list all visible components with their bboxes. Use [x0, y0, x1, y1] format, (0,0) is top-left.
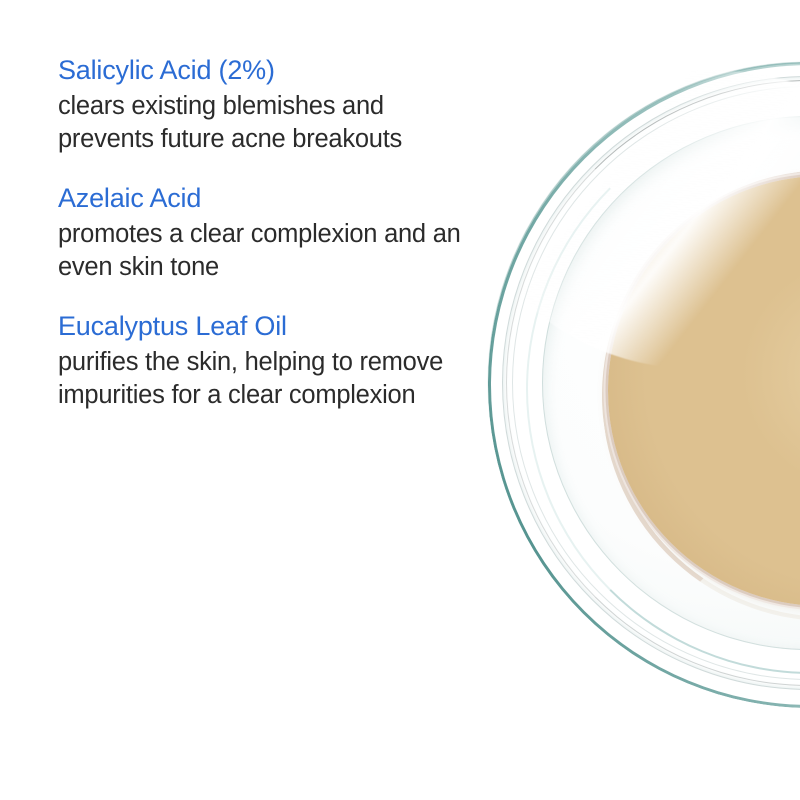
- benefit-description: clears existing blemishes and prevents f…: [58, 90, 478, 156]
- benefit-item-azelaic-acid: Azelaic Acid promotes a clear complexion…: [58, 180, 478, 284]
- benefit-item-salicylic-acid: Salicylic Acid (2%) clears existing blem…: [58, 52, 478, 156]
- benefits-list: Salicylic Acid (2%) clears existing blem…: [58, 52, 478, 412]
- benefit-item-eucalyptus-leaf-oil: Eucalyptus Leaf Oil purifies the skin, h…: [58, 308, 478, 412]
- product-photo: [430, 0, 800, 800]
- benefit-title: Eucalyptus Leaf Oil: [58, 308, 478, 344]
- benefit-title: Salicylic Acid (2%): [58, 52, 478, 88]
- benefit-description: purifies the skin, helping to remove imp…: [58, 346, 478, 412]
- product-benefits-panel: Salicylic Acid (2%) clears existing blem…: [0, 0, 800, 800]
- benefit-description: promotes a clear complexion and an even …: [58, 218, 478, 284]
- benefit-title: Azelaic Acid: [58, 180, 478, 216]
